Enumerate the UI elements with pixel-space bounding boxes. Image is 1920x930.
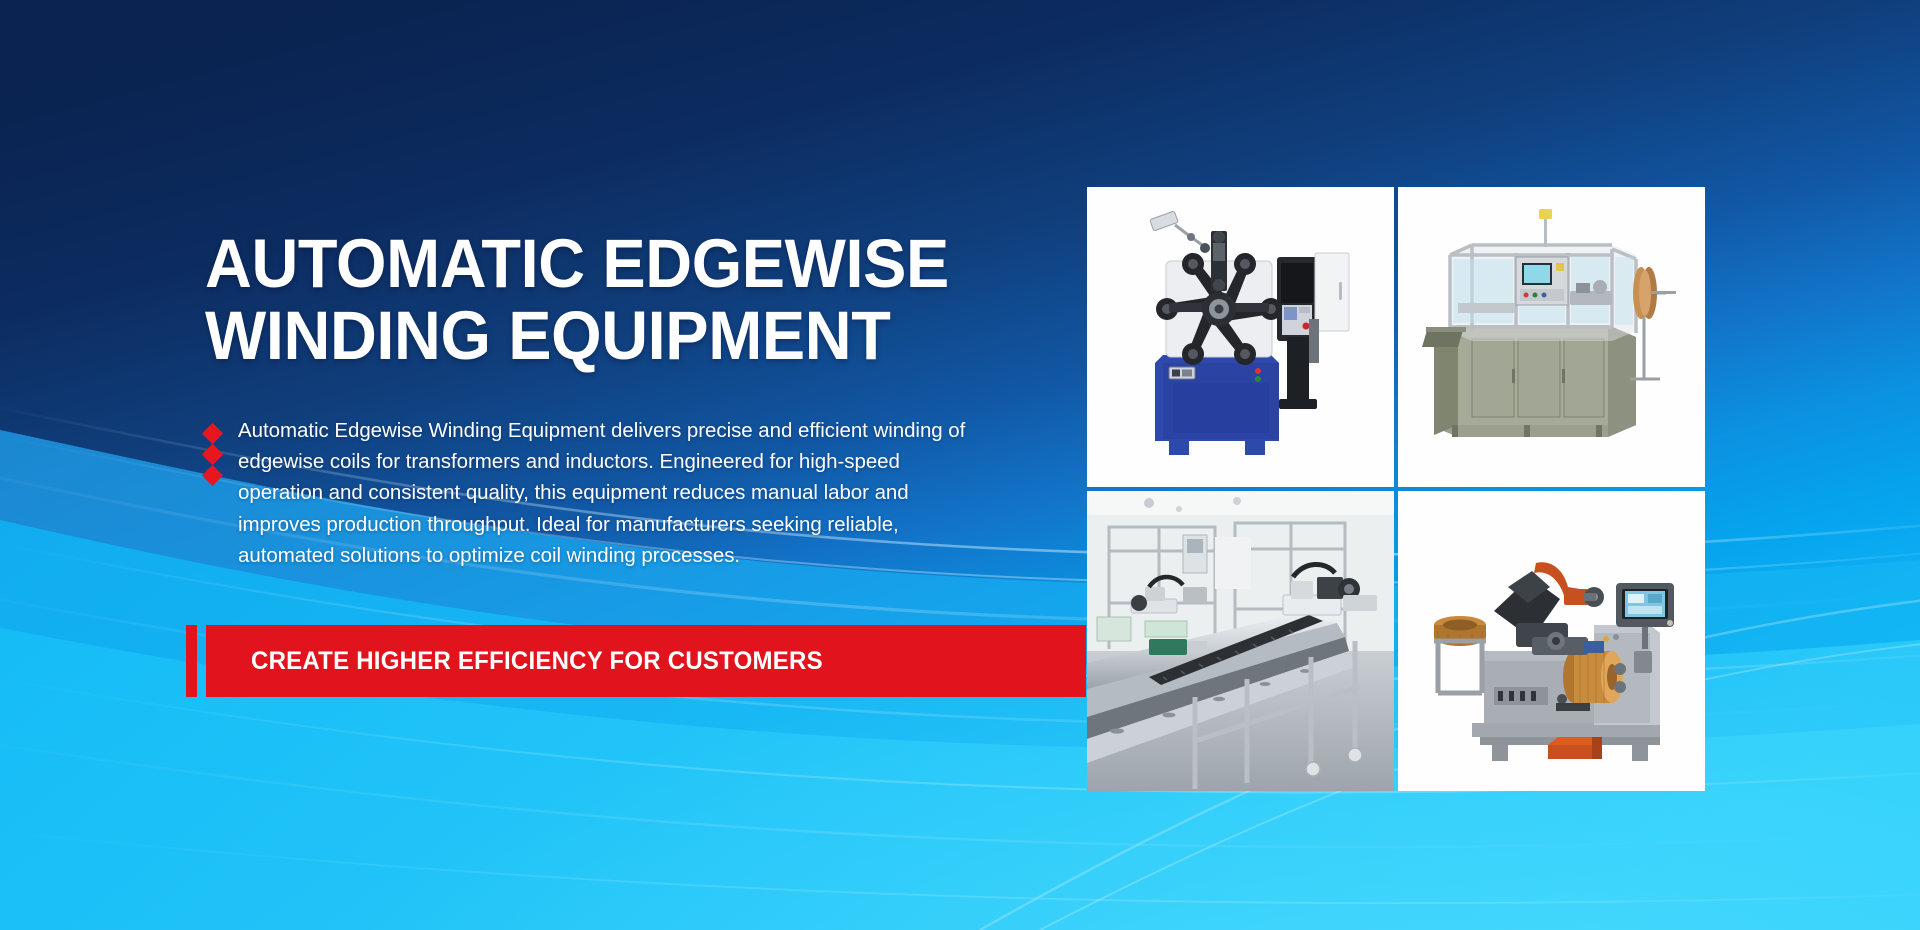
hero-banner-slide: AUTOMATIC EDGEWISE WINDING EQUIPMENT Aut… [0,0,1920,930]
diamond-icon [202,423,223,444]
diamond-icon [202,465,223,486]
product-image-edgewise-coil-winding-machine[interactable] [1398,491,1705,791]
product-image-enclosed-automatic-winding-line[interactable] [1398,187,1705,487]
banner-text: CREATE HIGHER EFFICIENCY FOR CUSTOMERS [251,647,823,676]
product-image-automated-production-line-workshop[interactable] [1087,491,1394,791]
product-image-cnc-spring-coiling-machine[interactable] [1087,187,1394,487]
diamond-icon [202,444,223,465]
page-title: AUTOMATIC EDGEWISE WINDING EQUIPMENT [205,228,1032,372]
tagline-banner: CREATE HIGHER EFFICIENCY FOR CUSTOMERS [186,625,1086,697]
description-text: Automatic Edgewise Winding Equipment del… [238,415,980,571]
product-image-grid [1087,187,1705,795]
headline-line-2: WINDING EQUIPMENT [205,300,1032,372]
banner-accent-gap [197,625,206,697]
bullet-diamond-group [205,415,220,571]
headline-line-1: AUTOMATIC EDGEWISE [205,225,949,302]
banner-accent-tick [186,625,197,697]
hero-content: AUTOMATIC EDGEWISE WINDING EQUIPMENT Aut… [0,0,1100,930]
banner-bar: CREATE HIGHER EFFICIENCY FOR CUSTOMERS [206,625,1086,697]
description-block: Automatic Edgewise Winding Equipment del… [205,415,995,571]
